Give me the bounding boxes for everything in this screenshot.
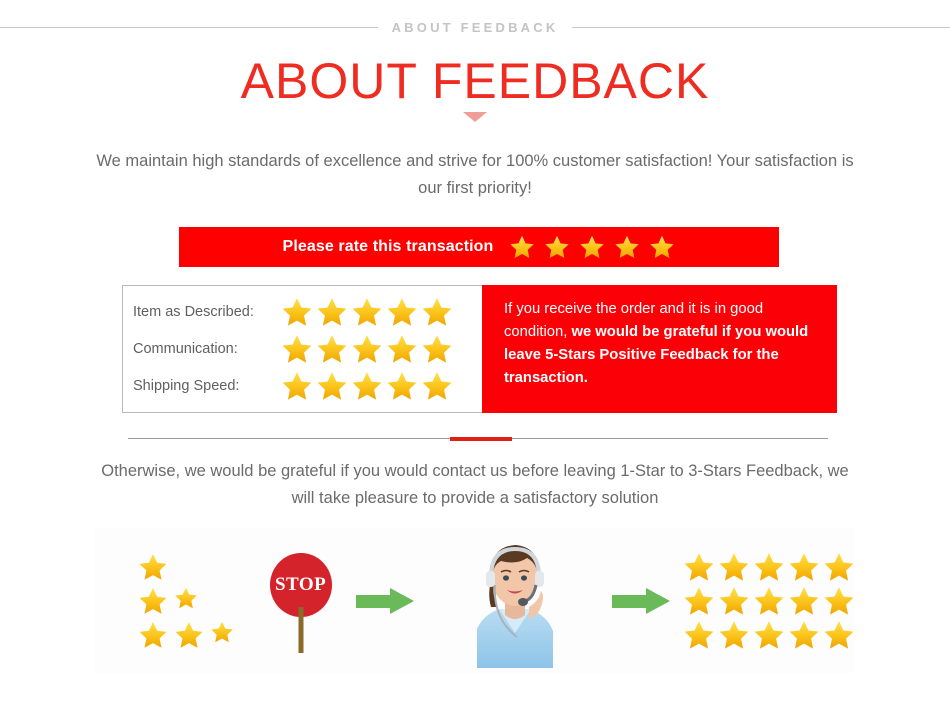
bad-star-row — [138, 586, 234, 616]
star-icon — [823, 619, 855, 651]
star-icon[interactable] — [386, 333, 418, 365]
feedback-flow-band: STOP — [95, 528, 855, 673]
arrow-right-icon — [356, 588, 414, 614]
flow-arrow-1 — [343, 541, 427, 661]
star-icon — [174, 586, 198, 616]
star-icon[interactable] — [281, 296, 313, 328]
five-star-grid — [683, 541, 855, 661]
star-icon[interactable] — [579, 234, 605, 260]
good-star-row — [683, 619, 855, 651]
star-icon — [788, 619, 820, 651]
star-icon[interactable] — [544, 234, 570, 260]
low-rating-stars-group — [95, 541, 259, 661]
otherwise-paragraph: Otherwise, we would be grateful if you w… — [95, 458, 855, 512]
star-icon — [683, 551, 715, 583]
arrow-shaft — [356, 595, 392, 608]
star-icon[interactable] — [421, 370, 453, 402]
rating-stars[interactable] — [281, 333, 453, 365]
ratings-box: Item as Described: Communication: Shippi… — [122, 285, 482, 413]
star-icon — [210, 620, 234, 650]
triangle-down-icon — [463, 112, 487, 122]
section-divider — [128, 437, 828, 440]
arrow-shaft — [612, 595, 648, 608]
rating-label: Communication: — [133, 341, 281, 357]
intro-paragraph: We maintain high standards of excellence… — [95, 148, 855, 202]
rating-row: Shipping Speed: — [133, 369, 482, 403]
positive-feedback-note-panel: If you receive the order and it is in go… — [482, 285, 837, 413]
rate-transaction-label: Please rate this transaction — [283, 238, 494, 256]
star-icon — [788, 551, 820, 583]
star-icon[interactable] — [351, 296, 383, 328]
divider-accent — [450, 437, 512, 441]
eyebrow-rule-left — [0, 27, 378, 28]
rating-stars[interactable] — [281, 296, 453, 328]
rating-label: Item as Described: — [133, 304, 281, 320]
arrow-head — [646, 588, 670, 614]
star-icon[interactable] — [509, 234, 535, 260]
rating-row: Item as Described: — [133, 295, 482, 329]
good-star-row — [683, 585, 855, 617]
star-icon — [174, 620, 204, 650]
star-icon — [788, 585, 820, 617]
star-icon[interactable] — [351, 333, 383, 365]
ratings-and-note-block: Item as Described: Communication: Shippi… — [122, 285, 837, 413]
rating-label: Shipping Speed: — [133, 378, 281, 394]
rating-stars[interactable] — [281, 370, 453, 402]
star-icon[interactable] — [316, 296, 348, 328]
star-icon[interactable] — [316, 370, 348, 402]
star-icon[interactable] — [386, 370, 418, 402]
star-icon — [683, 585, 715, 617]
arrow-right-icon — [612, 588, 670, 614]
star-icon — [753, 585, 785, 617]
eyebrow-header: ABOUT FEEDBACK — [0, 14, 950, 40]
star-icon[interactable] — [281, 370, 313, 402]
bad-star-row — [138, 620, 234, 650]
star-icon[interactable] — [649, 234, 675, 260]
rating-row: Communication: — [133, 332, 482, 366]
arrow-head — [390, 588, 414, 614]
eyebrow-rule-right — [572, 27, 950, 28]
rate-banner-stars[interactable] — [509, 234, 675, 260]
customer-service-agent-image — [427, 533, 599, 668]
star-icon[interactable] — [351, 370, 383, 402]
star-icon[interactable] — [386, 296, 418, 328]
stop-sign-group: STOP — [259, 541, 343, 661]
rate-transaction-banner: Please rate this transaction — [179, 227, 779, 267]
star-icon — [138, 586, 168, 616]
star-icon[interactable] — [316, 333, 348, 365]
flow-arrow-2 — [599, 541, 683, 661]
star-icon[interactable] — [614, 234, 640, 260]
star-icon — [718, 551, 750, 583]
star-icon — [138, 552, 168, 582]
star-icon — [683, 619, 715, 651]
stop-sign-pole — [298, 607, 303, 653]
star-icon[interactable] — [281, 333, 313, 365]
eyebrow-label: ABOUT FEEDBACK — [378, 20, 573, 35]
star-icon — [823, 585, 855, 617]
star-icon — [718, 585, 750, 617]
star-icon — [138, 620, 168, 650]
agent-illustration — [433, 533, 593, 668]
bad-star-row — [138, 552, 234, 582]
star-icon[interactable] — [421, 296, 453, 328]
page-title: ABOUT FEEDBACK — [0, 50, 950, 112]
stop-sign-label: STOP — [275, 574, 326, 596]
star-icon — [753, 619, 785, 651]
star-icon — [823, 551, 855, 583]
good-star-row — [683, 551, 855, 583]
star-icon[interactable] — [421, 333, 453, 365]
star-icon — [718, 619, 750, 651]
star-icon — [753, 551, 785, 583]
